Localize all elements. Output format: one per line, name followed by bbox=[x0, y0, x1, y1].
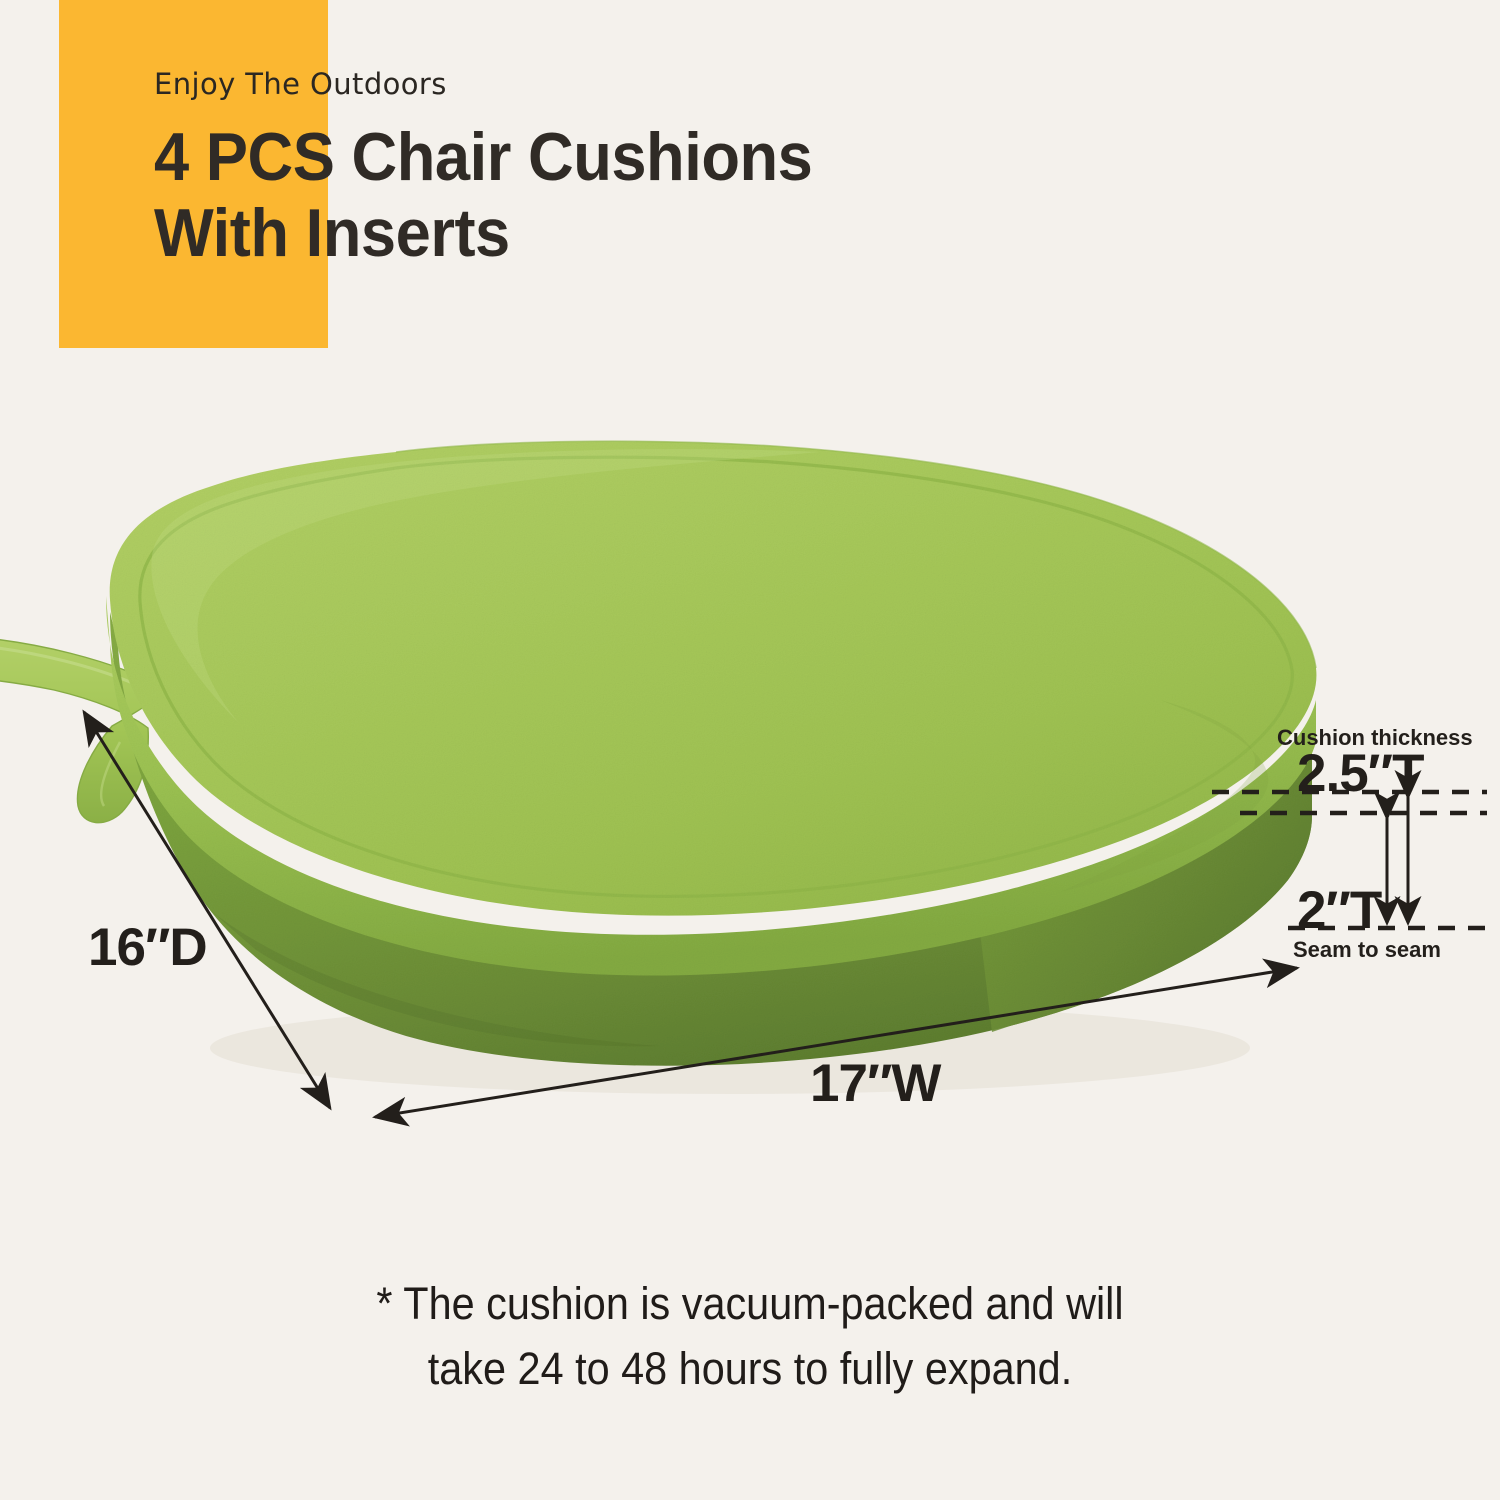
headline-line-1: 4 PCS Chair Cushions bbox=[154, 119, 1270, 195]
cushion-body bbox=[106, 441, 1316, 1066]
header-text-group: Enjoy The Outdoors 4 PCS Chair Cushions … bbox=[154, 70, 1354, 271]
cushion-tie-strap bbox=[0, 636, 168, 823]
headline-line-2: With Inserts bbox=[154, 195, 1270, 271]
page-title: 4 PCS Chair Cushions With Inserts bbox=[154, 119, 1270, 271]
depth-dimension-arrow bbox=[84, 712, 330, 1108]
width-dimension-label: 17″W bbox=[810, 1057, 940, 1110]
total-thickness-label: 2.5″T bbox=[1297, 747, 1423, 800]
footnote-line-2: take 24 to 48 hours to fully expand. bbox=[60, 1337, 1440, 1402]
depth-dimension-label: 16″D bbox=[88, 921, 207, 974]
eyebrow-text: Enjoy The Outdoors bbox=[154, 70, 1354, 99]
footnote-text: * The cushion is vacuum-packed and will … bbox=[60, 1272, 1440, 1402]
footnote-line-1: * The cushion is vacuum-packed and will bbox=[60, 1272, 1440, 1337]
seam-to-seam-caption: Seam to seam bbox=[1293, 939, 1441, 961]
infographic-canvas: Enjoy The Outdoors 4 PCS Chair Cushions … bbox=[0, 0, 1500, 1500]
seam-thickness-label: 2″T bbox=[1297, 884, 1381, 937]
